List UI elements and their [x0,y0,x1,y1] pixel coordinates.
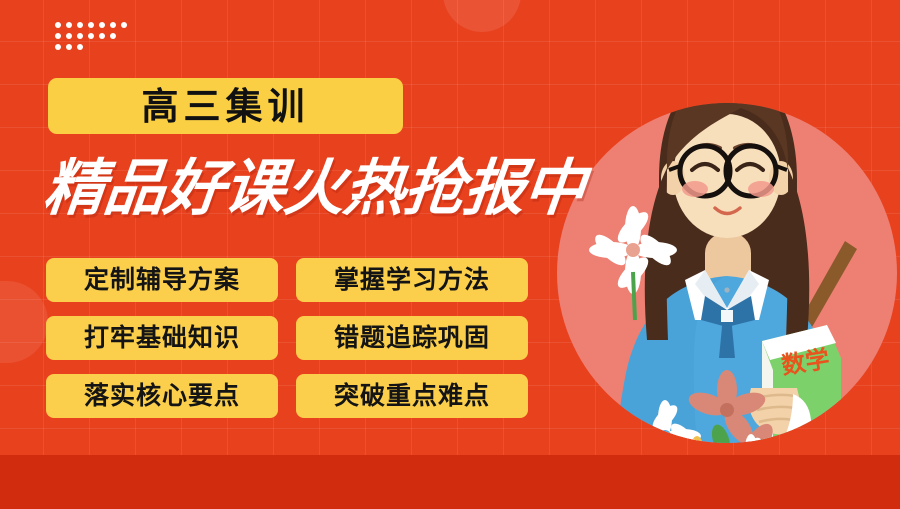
course-badge[interactable]: 高三集训 [48,78,403,134]
feature-tag-list: 定制辅导方案 掌握学习方法 打牢基础知识 错题追踪巩固 落实核心要点 突破重点难… [46,258,546,418]
feature-tag-label: 定制辅导方案 [84,268,240,293]
promo-banner: 数学 [0,0,900,509]
feature-tag-label: 突破重点难点 [334,384,490,409]
feature-tag[interactable]: 错题追踪巩固 [296,316,528,360]
feature-tag[interactable]: 掌握学习方法 [296,258,528,302]
feature-tag-label: 错题追踪巩固 [334,326,490,351]
dot-matrix-pattern [55,22,135,54]
course-badge-label: 高三集训 [142,88,310,125]
headline: 精品好课火热抢报中 [44,152,584,224]
headline-text: 精品好课火热抢报中 [41,158,587,219]
feature-tag[interactable]: 打牢基础知识 [46,316,278,360]
bottom-band [0,455,900,509]
student-girl-illustration: 数学 [555,58,900,478]
feature-tag-label: 落实核心要点 [84,384,240,409]
feature-tag[interactable]: 定制辅导方案 [46,258,278,302]
feature-tag[interactable]: 落实核心要点 [46,374,278,418]
feature-tag[interactable]: 突破重点难点 [296,374,528,418]
feature-tag-label: 掌握学习方法 [334,268,490,293]
feature-tag-label: 打牢基础知识 [84,326,240,351]
